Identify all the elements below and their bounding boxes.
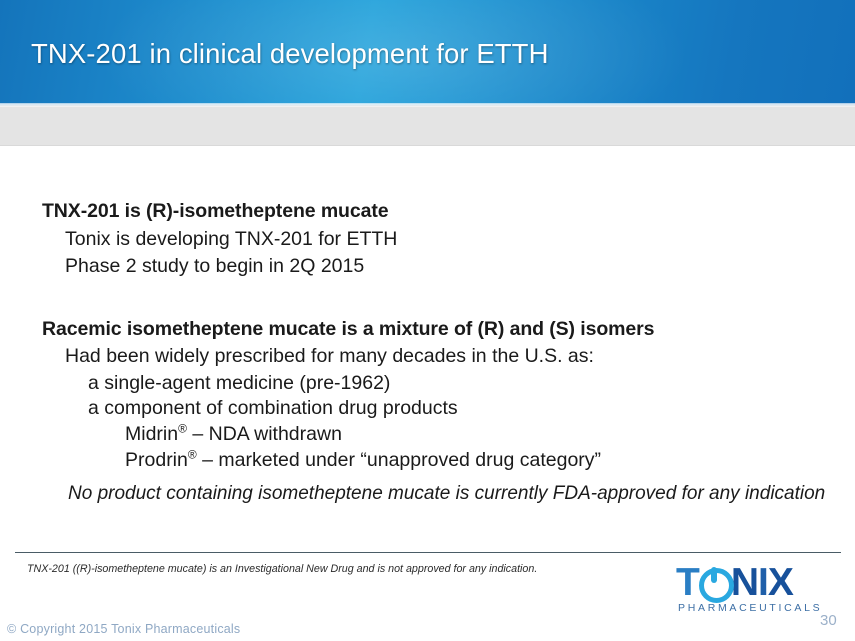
block-2-line-2: a single-agent medicine (pre-1962) [88, 374, 390, 394]
logo-wordmark: T N I X [676, 566, 793, 600]
registered-icon: ® [178, 422, 187, 436]
tonix-logo: T N I X PHARMACEUTICALS [676, 566, 846, 616]
logo-letter-t: T [676, 566, 699, 600]
block-2-line-5: Prodrin® – marketed under “unapproved dr… [125, 451, 601, 471]
logo-subtitle: PHARMACEUTICALS [678, 602, 822, 614]
block-2-line-1: Had been widely prescribed for many deca… [65, 347, 594, 367]
copyright-text: © Copyright 2015 Tonix Pharmaceuticals [7, 622, 240, 636]
slide-header: TNX-201 in clinical development for ETTH [0, 0, 855, 105]
logo-letter-n: N [731, 566, 758, 600]
block-heading-1: TNX-201 is (R)-isometheptene mucate [42, 202, 389, 222]
block-heading-2: Racemic isometheptene mucate is a mixtur… [42, 320, 654, 340]
prodrin-suffix: – marketed under “unapproved drug catego… [197, 449, 601, 471]
footnote-text: TNX-201 ((R)-isometheptene mucate) is an… [27, 563, 537, 575]
logo-letter-i: I [758, 566, 768, 600]
italic-disclaimer: No product containing isometheptene muca… [68, 484, 825, 503]
subtitle-band [0, 106, 855, 146]
power-o-icon [699, 568, 730, 599]
block-2-line-3: a component of combination drug products [88, 399, 458, 419]
registered-icon: ® [188, 448, 197, 462]
footer-divider [15, 552, 841, 553]
logo-letter-x: X [768, 566, 793, 600]
block-1-line-2: Phase 2 study to begin in 2Q 2015 [65, 257, 364, 277]
block-1-line-1: Tonix is developing TNX-201 for ETTH [65, 230, 397, 250]
midrin-suffix: – NDA withdrawn [187, 423, 342, 445]
brand-prodrin: Prodrin [125, 449, 188, 471]
logo-stem [711, 567, 717, 583]
block-2-line-4: Midrin® – NDA withdrawn [125, 425, 342, 445]
page-title: TNX-201 in clinical development for ETTH [31, 38, 549, 70]
slide-body: TNX-201 is (R)-isometheptene mucate Toni… [0, 144, 855, 544]
brand-midrin: Midrin [125, 423, 178, 445]
